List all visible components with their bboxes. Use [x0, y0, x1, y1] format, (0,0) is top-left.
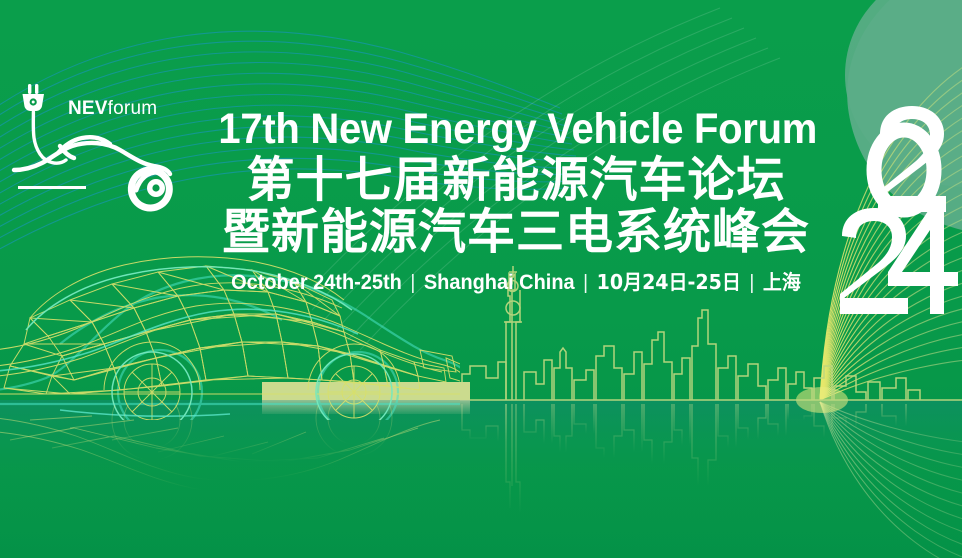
wheel-swirl-icon [131, 170, 169, 208]
separator-1: | [402, 272, 424, 294]
logo-wordmark-light: forum [108, 98, 158, 119]
title-chinese-line1: 第十七届新能源汽车论坛 [196, 153, 836, 208]
logo-wordmark-bold: NEV [68, 98, 108, 119]
skyline-reflection [462, 404, 906, 514]
title-chinese-line2: 暨新能源汽车三电系统峰会 [196, 205, 836, 260]
title-block: 17th New Energy Vehicle Forum 第十七届新能源汽车论… [196, 106, 836, 295]
logo-wordmark: NEVforum [68, 98, 157, 120]
location-chinese: 上海 [763, 270, 801, 294]
separator-3: | [741, 272, 763, 294]
event-details-line: October 24th-25th|Shanghai China|10月24日-… [212, 270, 820, 295]
date-chinese: 10月24日-25日 [597, 270, 741, 294]
logo-underline [18, 186, 86, 189]
date-english: October 24th-25th [231, 271, 402, 294]
location-english: Shanghai China [424, 271, 575, 294]
charging-plug-icon [23, 84, 45, 111]
charging-cable-icon [33, 112, 66, 163]
year-2024-graphic [836, 104, 962, 316]
title-english: 17th New Energy Vehicle Forum [218, 106, 813, 153]
separator-2: | [575, 272, 597, 294]
conference-banner: NEVforum 17th New Energy Vehicle Forum 第… [0, 0, 962, 558]
